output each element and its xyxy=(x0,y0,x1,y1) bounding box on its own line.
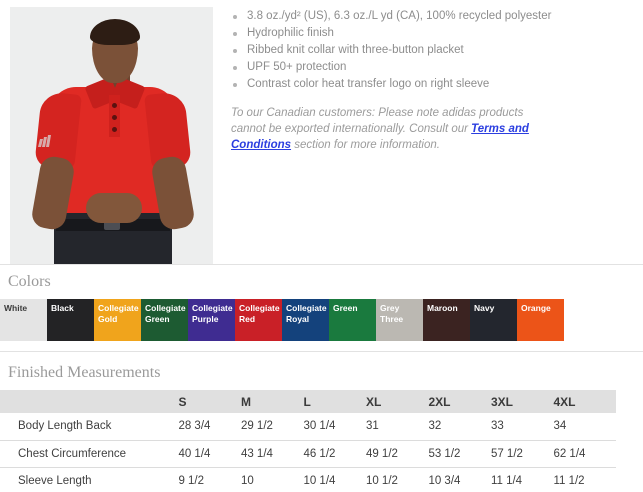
measurement-value: 28 3/4 xyxy=(178,413,241,440)
measurements-section: Finished Measurements SMLXL2XL3XL4XL Bod… xyxy=(0,352,643,492)
measurement-value: 32 xyxy=(428,413,491,440)
placket-button-1 xyxy=(112,103,117,108)
measurement-label: Body Length Back xyxy=(0,413,178,440)
table-row: Sleeve Length9 1/21010 1/410 1/210 3/411… xyxy=(0,467,616,492)
color-swatch-label: Maroon xyxy=(427,303,468,314)
color-swatch-row: WhiteBlackCollegiate GoldCollegiate Gree… xyxy=(0,299,643,341)
measurement-value: 10 1/2 xyxy=(366,467,429,492)
measurement-value: 10 3/4 xyxy=(428,467,491,492)
column-header-size: S xyxy=(178,390,241,413)
color-swatch-label: Collegiate Green xyxy=(145,303,186,325)
measurement-value: 57 1/2 xyxy=(491,440,554,467)
measurements-table-body: Body Length Back28 3/429 1/230 1/4313233… xyxy=(0,413,616,492)
measurement-label: Chest Circumference xyxy=(0,440,178,467)
column-header-label xyxy=(0,390,178,413)
color-swatch[interactable]: White xyxy=(0,299,47,341)
table-row: Chest Circumference40 1/443 1/446 1/249 … xyxy=(0,440,616,467)
color-swatch-label: Collegiate Purple xyxy=(192,303,233,325)
color-swatch[interactable]: Collegiate Gold xyxy=(94,299,141,341)
column-header-size: 4XL xyxy=(553,390,616,413)
color-swatch-label: Black xyxy=(51,303,92,314)
feature-item: Ribbed knit collar with three-button pla… xyxy=(231,42,633,59)
measurement-value: 40 1/4 xyxy=(178,440,241,467)
color-swatch-label: Navy xyxy=(474,303,515,314)
column-header-size: 3XL xyxy=(491,390,554,413)
feature-list: 3.8 oz./yd² (US), 6.3 oz./L yd (CA), 100… xyxy=(231,8,633,93)
color-swatch-label: Grey Three xyxy=(380,303,421,325)
measurement-value: 49 1/2 xyxy=(366,440,429,467)
placket-button-2 xyxy=(112,115,117,120)
feature-item: UPF 50+ protection xyxy=(231,59,633,76)
feature-item: 3.8 oz./yd² (US), 6.3 oz./L yd (CA), 100… xyxy=(231,8,633,25)
color-swatch[interactable]: Maroon xyxy=(423,299,470,341)
color-swatch-label: Collegiate Royal xyxy=(286,303,327,325)
note-text-after: section for more information. xyxy=(291,139,440,151)
color-swatch-label: Collegiate Gold xyxy=(98,303,139,325)
measurement-value: 33 xyxy=(491,413,554,440)
color-swatch[interactable]: Black xyxy=(47,299,94,341)
product-image-container[interactable] xyxy=(0,0,213,264)
color-swatch[interactable]: Collegiate Royal xyxy=(282,299,329,341)
color-swatch[interactable]: Collegiate Purple xyxy=(188,299,235,341)
placket-button-3 xyxy=(112,127,117,132)
measurements-table: SMLXL2XL3XL4XL Body Length Back28 3/429 … xyxy=(0,390,616,492)
column-header-size: L xyxy=(303,390,366,413)
measurement-value: 9 1/2 xyxy=(178,467,241,492)
measurement-value: 62 1/4 xyxy=(553,440,616,467)
measurement-label: Sleeve Length xyxy=(0,467,178,492)
measurement-value: 10 1/4 xyxy=(303,467,366,492)
color-swatch-label: Orange xyxy=(521,303,562,314)
measurement-value: 11 1/4 xyxy=(491,467,554,492)
product-features: 3.8 oz./yd² (US), 6.3 oz./L yd (CA), 100… xyxy=(213,0,643,165)
colors-section: Colors WhiteBlackCollegiate GoldCollegia… xyxy=(0,265,643,341)
color-swatch[interactable]: Green xyxy=(329,299,376,341)
color-swatch-label: White xyxy=(4,303,45,314)
colors-heading: Colors xyxy=(0,265,643,299)
color-swatch-label: Collegiate Red xyxy=(239,303,280,325)
column-header-size: XL xyxy=(366,390,429,413)
table-row: Body Length Back28 3/429 1/230 1/4313233… xyxy=(0,413,616,440)
feature-item: Hydrophilic finish xyxy=(231,25,633,42)
measurements-table-head: SMLXL2XL3XL4XL xyxy=(0,390,616,413)
column-header-size: 2XL xyxy=(428,390,491,413)
canadian-customers-note: To our Canadian customers: Please note a… xyxy=(231,105,561,153)
color-swatch[interactable]: Collegiate Red xyxy=(235,299,282,341)
feature-item: Contrast color heat transfer logo on rig… xyxy=(231,76,633,93)
measurement-value: 43 1/4 xyxy=(241,440,304,467)
measurement-value: 46 1/2 xyxy=(303,440,366,467)
measurement-value: 53 1/2 xyxy=(428,440,491,467)
measurement-value: 10 xyxy=(241,467,304,492)
model-hands xyxy=(86,193,142,223)
adidas-logo-icon xyxy=(38,135,52,147)
measurement-value: 31 xyxy=(366,413,429,440)
color-swatch-label: Green xyxy=(333,303,374,314)
color-swatch[interactable]: Collegiate Green xyxy=(141,299,188,341)
column-header-size: M xyxy=(241,390,304,413)
measurement-value: 11 1/2 xyxy=(553,467,616,492)
color-swatch[interactable]: Orange xyxy=(517,299,564,341)
measurement-value: 29 1/2 xyxy=(241,413,304,440)
color-swatch[interactable]: Grey Three xyxy=(376,299,423,341)
table-header-row: SMLXL2XL3XL4XL xyxy=(0,390,616,413)
measurement-value: 30 1/4 xyxy=(303,413,366,440)
product-overview-section: 3.8 oz./yd² (US), 6.3 oz./L yd (CA), 100… xyxy=(0,0,643,264)
measurement-value: 34 xyxy=(553,413,616,440)
measurements-heading: Finished Measurements xyxy=(0,356,643,390)
color-swatch[interactable]: Navy xyxy=(470,299,517,341)
product-photo[interactable] xyxy=(10,7,213,264)
